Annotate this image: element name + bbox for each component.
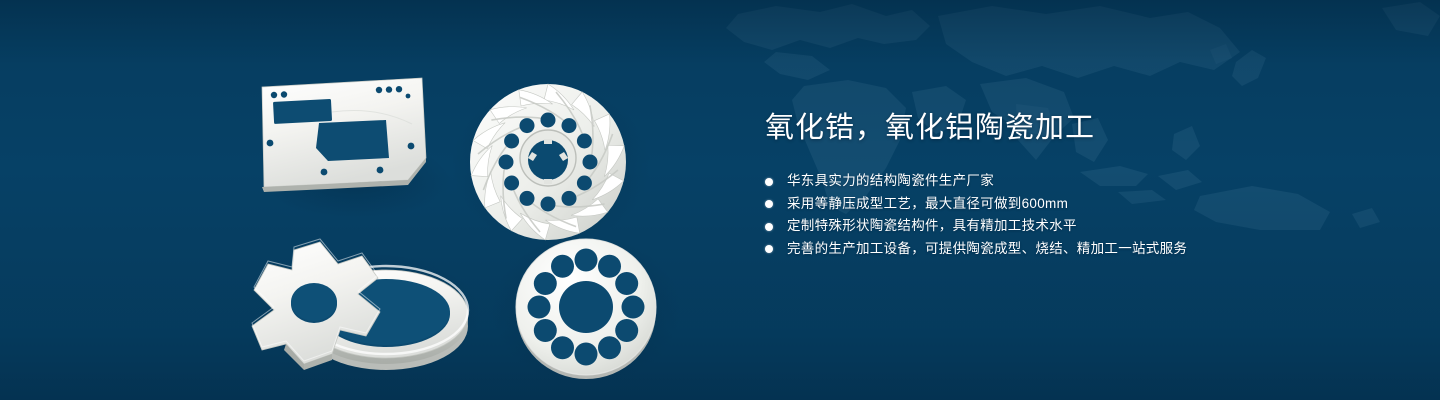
list-item: 采用等静压成型工艺，最大直径可做到600mm [765, 193, 1385, 216]
bullet-dot-icon [765, 200, 773, 208]
list-item: 华东具实力的结构陶瓷件生产厂家 [765, 170, 1385, 193]
ceramic-perforated-disc-part [516, 239, 656, 379]
list-item-label: 定制特殊形状陶瓷结构件，具有精加工技术水平 [787, 218, 1077, 233]
ceramic-products-photo [236, 40, 696, 380]
bullet-dot-icon [765, 245, 773, 253]
ceramic-processing-banner: 氧化锆，氧化铝陶瓷加工 华东具实力的结构陶瓷件生产厂家 采用等静压成型工艺，最大… [0, 0, 1440, 400]
bullet-dot-icon [765, 223, 773, 231]
list-item-label: 完善的生产加工设备，可提供陶瓷成型、烧结、精加工一站式服务 [787, 241, 1187, 256]
banner-copy: 氧化锆，氧化铝陶瓷加工 华东具实力的结构陶瓷件生产厂家 采用等静压成型工艺，最大… [765, 108, 1385, 260]
list-item-label: 华东具实力的结构陶瓷件生产厂家 [787, 173, 994, 188]
list-item: 定制特殊形状陶瓷结构件，具有精加工技术水平 [765, 215, 1385, 238]
list-item: 完善的生产加工设备，可提供陶瓷成型、烧结、精加工一站式服务 [765, 238, 1385, 261]
feature-list: 华东具实力的结构陶瓷件生产厂家 采用等静压成型工艺，最大直径可做到600mm 定… [765, 170, 1385, 260]
page-title: 氧化锆，氧化铝陶瓷加工 [765, 108, 1385, 148]
list-item-label: 采用等静压成型工艺，最大直径可做到600mm [787, 196, 1068, 211]
bullet-dot-icon [765, 178, 773, 186]
ceramic-plate-part [262, 78, 426, 192]
